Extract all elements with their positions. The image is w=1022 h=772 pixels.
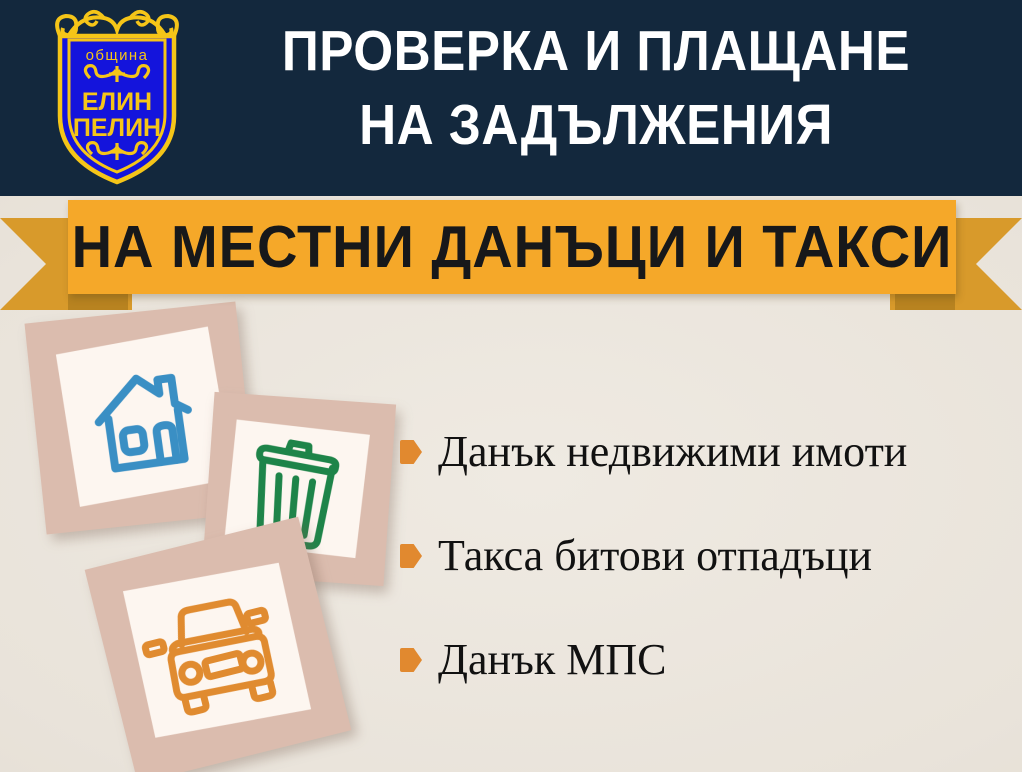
arrow-bullet-icon: [400, 440, 422, 464]
coat-of-arms-icon: община ЕЛИН ПЕЛИН: [42, 8, 192, 188]
arrow-bullet-icon: [400, 544, 422, 568]
ribbon-plate: НА МЕСТНИ ДАНЪЦИ И ТАКСИ: [68, 200, 956, 294]
ribbon-fold-right: [895, 292, 955, 310]
poster-canvas: ПРОВЕРКА И ПЛАЩАНЕ НА ЗАДЪЛЖЕНИЯ община: [0, 0, 1022, 772]
logo-line-pelin: ПЕЛИН: [73, 114, 161, 142]
ribbon-fold-left: [68, 292, 128, 310]
list-item-label: Данък недвижими имоти: [438, 428, 907, 476]
logo-line-elin: ЕЛИН: [82, 88, 152, 116]
house-icon: [93, 372, 194, 470]
list-item-label: Данък МПС: [438, 636, 666, 684]
list-item-label: Такса битови отпадъци: [438, 532, 872, 580]
list-item[interactable]: Данък МПС: [400, 632, 1010, 688]
car-icon: [139, 592, 284, 722]
page-title: ПРОВЕРКА И ПЛАЩАНЕ НА ЗАДЪЛЖЕНИЯ: [227, 14, 965, 162]
municipality-logo: община ЕЛИН ПЕЛИН: [42, 8, 192, 188]
logo-line-obshtina: община: [86, 47, 149, 64]
ribbon-subtitle: НА МЕСТНИ ДАНЪЦИ И ТАКСИ: [90, 200, 934, 294]
tax-type-list: Данък недвижими имоти Такса битови отпад…: [400, 424, 1010, 736]
ribbon-banner: НА МЕСТНИ ДАНЪЦИ И ТАКСИ: [0, 196, 1022, 316]
list-item[interactable]: Данък недвижими имоти: [400, 424, 1010, 480]
arrow-bullet-icon: [400, 648, 422, 672]
list-item[interactable]: Такса битови отпадъци: [400, 528, 1010, 584]
